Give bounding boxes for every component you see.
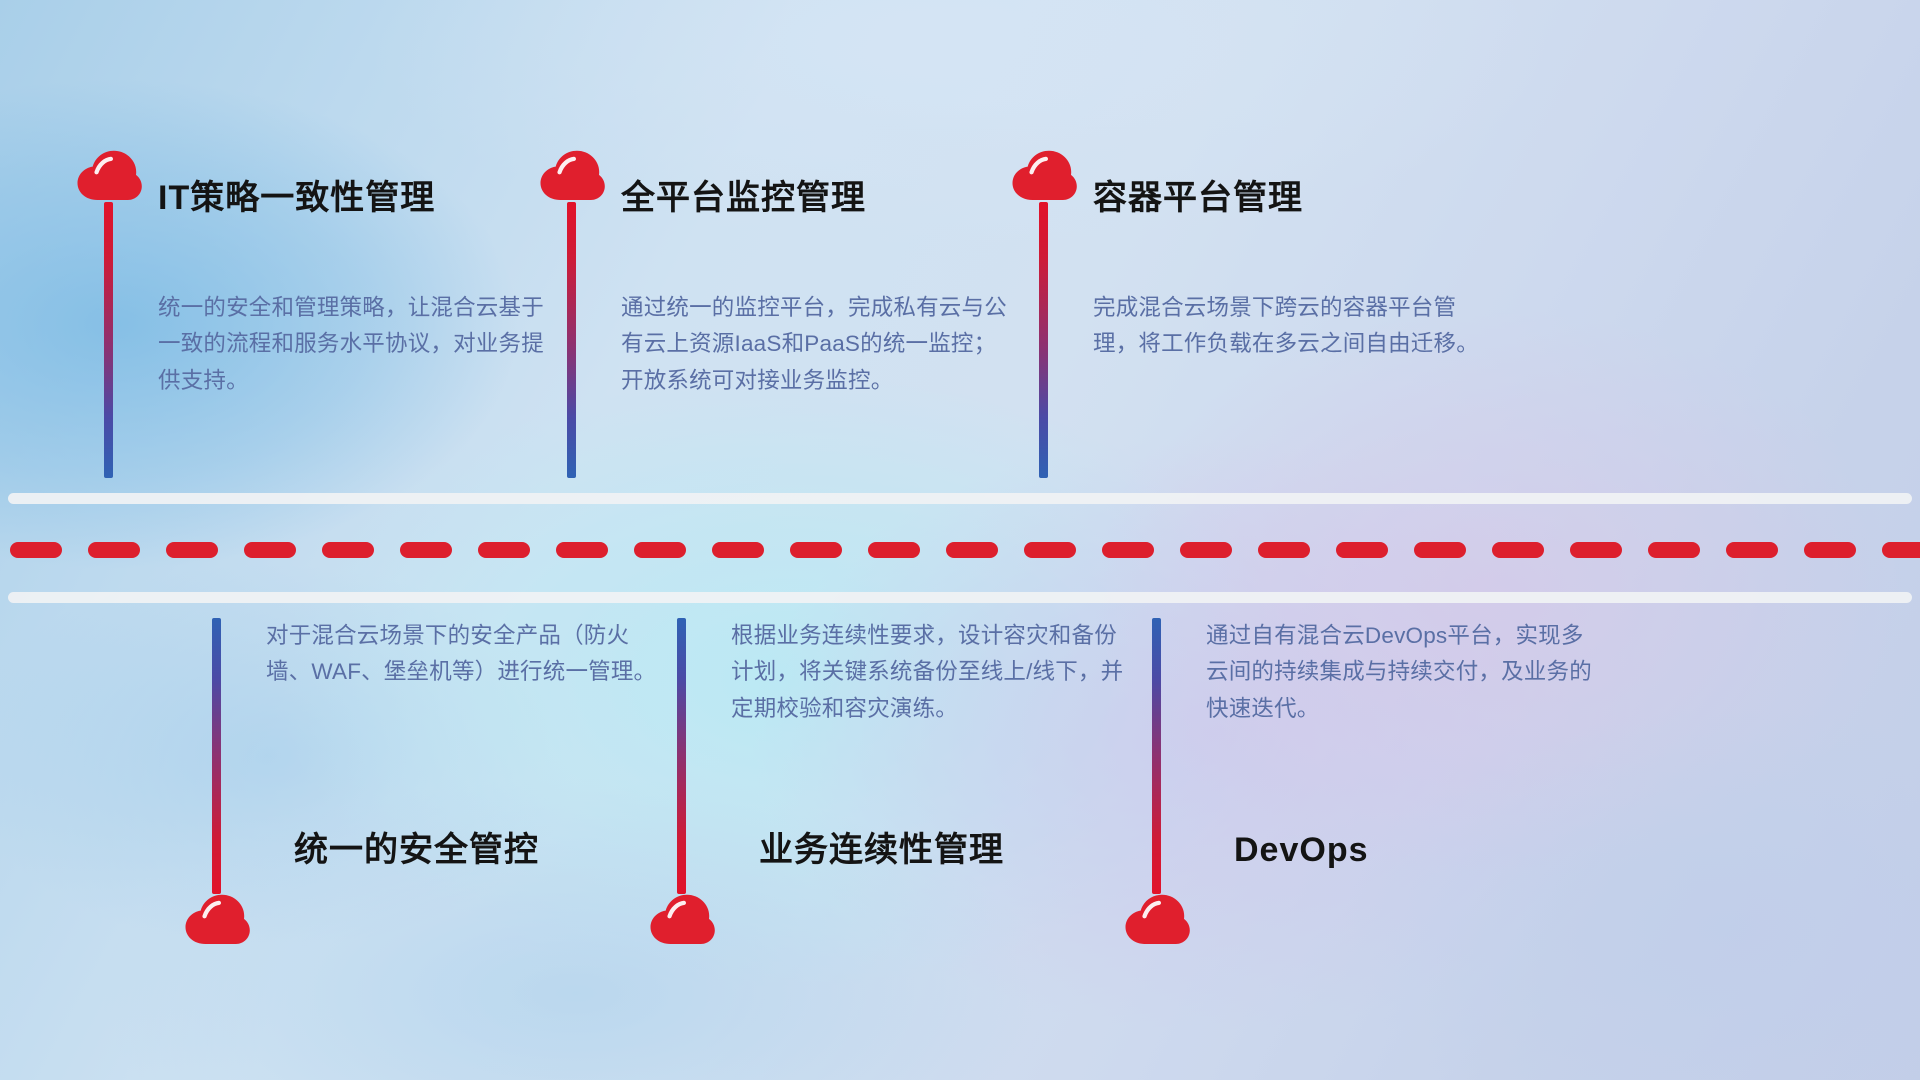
marker-top-3	[1011, 150, 1077, 478]
stem-bottom-1	[212, 618, 221, 894]
cloud-icon	[184, 894, 250, 946]
stem-top-1	[104, 202, 113, 478]
divider-dash-segment	[790, 542, 842, 558]
background-base-gradient	[0, 0, 1920, 1080]
background-glow-cyan	[0, 0, 1920, 1080]
top-card-2-description: 通过统一的监控平台，完成私有云与公有云上资源IaaS和PaaS的统一监控；开放系…	[621, 290, 1019, 399]
infographic-canvas: IT策略一致性管理 统一的安全和管理策略，让混合云基于一致的流程和服务水平协议，…	[0, 0, 1920, 1080]
divider-dash-segment	[244, 542, 296, 558]
divider-dash-segment	[400, 542, 452, 558]
divider-dashed-red	[0, 542, 1920, 558]
divider-dash-segment	[322, 542, 374, 558]
bottom-card-2-description: 根据业务连续性要求，设计容灾和备份计划，将关键系统备份至线上/线下，并定期校验和…	[731, 618, 1129, 727]
divider-dash-segment	[478, 542, 530, 558]
marker-bottom-3	[1124, 618, 1190, 946]
divider-rail-bottom	[8, 592, 1912, 603]
divider-dash-segment	[868, 542, 920, 558]
divider-dash-segment	[1414, 542, 1466, 558]
divider-dash-segment	[88, 542, 140, 558]
bottom-card-3-title: DevOps	[1234, 830, 1369, 871]
background-glow-midleft	[0, 0, 1920, 1080]
divider-dash-segment	[1882, 542, 1920, 558]
marker-bottom-1	[184, 618, 250, 946]
stem-bottom-3	[1152, 618, 1161, 894]
background-glow-left	[0, 0, 1920, 1080]
divider-dash-segment	[1258, 542, 1310, 558]
top-card-2-title: 全平台监控管理	[621, 178, 866, 219]
divider-dash-segment	[1102, 542, 1154, 558]
stem-bottom-2	[677, 618, 686, 894]
cloud-icon	[1011, 150, 1077, 202]
top-card-3-description: 完成混合云场景下跨云的容器平台管理，将工作负载在多云之间自由迁移。	[1093, 290, 1491, 363]
cloud-icon	[1124, 894, 1190, 946]
bottom-card-3-description: 通过自有混合云DevOps平台，实现多云间的持续集成与持续交付，及业务的快速迭代…	[1206, 618, 1604, 727]
divider-dash-segment	[1804, 542, 1856, 558]
cloud-icon	[539, 150, 605, 202]
background-glow-violet	[0, 0, 1920, 1080]
cloud-icon	[649, 894, 715, 946]
stem-top-2	[567, 202, 576, 478]
divider-dash-segment	[1492, 542, 1544, 558]
marker-top-2	[539, 150, 605, 478]
bottom-card-1-description: 对于混合云场景下的安全产品（防火墙、WAF、堡垒机等）进行统一管理。	[266, 618, 664, 691]
top-card-3-title: 容器平台管理	[1093, 178, 1303, 219]
marker-top-1	[76, 150, 142, 478]
cloud-icon	[76, 150, 142, 202]
divider-dash-segment	[1336, 542, 1388, 558]
divider-dash-segment	[166, 542, 218, 558]
divider-dash-segment	[1726, 542, 1778, 558]
divider-dash-segment	[1570, 542, 1622, 558]
divider-dash-segment	[1180, 542, 1232, 558]
divider-dash-segment	[634, 542, 686, 558]
bottom-card-2-title: 业务连续性管理	[759, 830, 1004, 871]
divider-dash-segment	[1024, 542, 1076, 558]
divider-dash-segment	[1648, 542, 1700, 558]
stem-top-3	[1039, 202, 1048, 478]
divider-dash-segment	[712, 542, 764, 558]
divider-dash-segment	[556, 542, 608, 558]
divider-dash-segment	[946, 542, 998, 558]
background-glow-top	[0, 0, 1920, 1080]
background-glow-lavender	[0, 0, 1920, 1080]
top-card-1-description: 统一的安全和管理策略，让混合云基于一致的流程和服务水平协议，对业务提供支持。	[158, 290, 556, 399]
bottom-card-1-title: 统一的安全管控	[294, 830, 539, 871]
divider-rail-top	[8, 493, 1912, 504]
background-glow-bottom	[0, 0, 1920, 1080]
top-card-1-title: IT策略一致性管理	[158, 178, 435, 219]
background-glow-right	[0, 0, 1920, 1080]
divider-dash-segment	[10, 542, 62, 558]
marker-bottom-2	[649, 618, 715, 946]
